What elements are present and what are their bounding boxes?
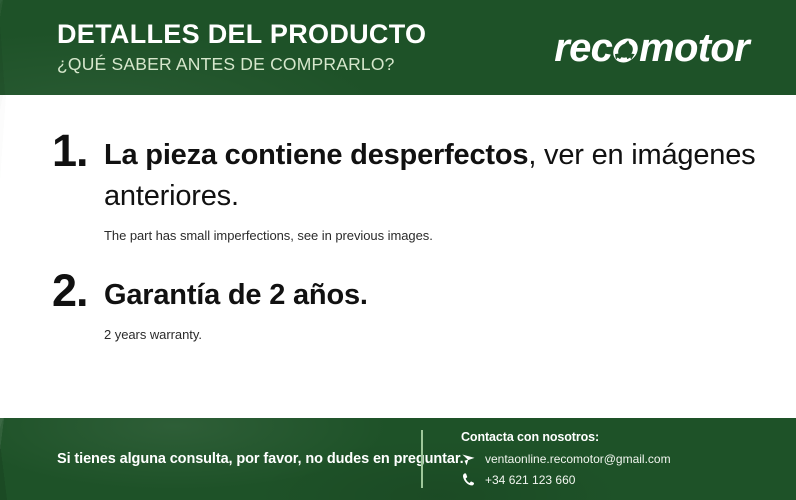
product-details-banner: DETALLES DEL PRODUCTO ¿QUÉ SABER ANTES D… [0, 0, 796, 500]
page-title: DETALLES DEL PRODUCTO [57, 20, 426, 49]
contact-email-row[interactable]: ventaonline.recomotor@gmail.com [461, 451, 671, 467]
recycle-icon [611, 38, 641, 63]
page-subtitle: ¿QUÉ SABER ANTES DE COMPRARLO? [57, 55, 426, 74]
detail-item-heading-bold: Garantía de 2 años. [104, 279, 368, 311]
detail-item-heading: La pieza contiene desperfectos, ver en i… [104, 135, 766, 217]
contact-block: Contacta con nosotros: ventaonline.recom… [461, 430, 671, 487]
contact-phone-row[interactable]: +34 621 123 660 [461, 472, 671, 488]
detail-item-subtext: The part has small imperfections, see in… [104, 228, 766, 245]
send-plane-icon [461, 452, 476, 467]
recomotor-logo: rec motor [554, 28, 749, 68]
header-title-group: DETALLES DEL PRODUCTO ¿QUÉ SABER ANTES D… [57, 20, 426, 74]
logo-text-after: motor [639, 28, 749, 68]
detail-item-2: 2. Garantía de 2 años. 2 years warranty. [52, 275, 766, 344]
contact-title: Contacta con nosotros: [461, 430, 671, 445]
detail-item-heading: Garantía de 2 años. [104, 275, 766, 316]
logo-text-before: rec [554, 28, 612, 68]
footer-bar: Si tienes alguna consulta, por favor, no… [0, 418, 796, 500]
footer-message: Si tienes alguna consulta, por favor, no… [0, 451, 421, 467]
phone-icon [461, 472, 476, 487]
header-bar: DETALLES DEL PRODUCTO ¿QUÉ SABER ANTES D… [0, 0, 796, 95]
detail-item-number: 1. [52, 130, 104, 173]
contact-phone-text: +34 621 123 660 [485, 472, 575, 488]
contact-email-text: ventaonline.recomotor@gmail.com [485, 451, 671, 467]
footer-divider [421, 430, 423, 488]
detail-item-heading-bold: La pieza contiene desperfectos [104, 139, 528, 171]
detail-item-1: 1. La pieza contiene desperfectos, ver e… [52, 135, 766, 245]
detail-item-subtext: 2 years warranty. [104, 327, 766, 344]
main-content: 1. La pieza contiene desperfectos, ver e… [0, 95, 796, 418]
detail-item-number: 2. [52, 270, 104, 313]
